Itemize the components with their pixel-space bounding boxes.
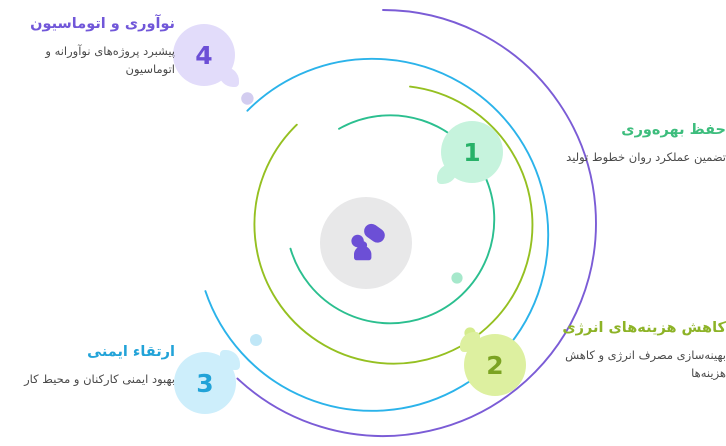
bubble-number-2: 2 — [486, 353, 503, 378]
item-heading-2: کاهش هزینه‌های انرژی — [556, 318, 726, 339]
dot-sky — [250, 334, 262, 346]
step-bubble-2[interactable]: 2 — [464, 334, 526, 396]
step-bubble-1[interactable]: 1 — [441, 121, 503, 183]
step-bubble-3[interactable]: 3 — [174, 352, 236, 414]
infographic-canvas: 4 1 2 3 نوآوری و اتوماسیون پیشبرد پروژه‌… — [0, 0, 726, 446]
bubble-number-4: 4 — [195, 43, 212, 68]
item-block-2: کاهش هزینه‌های انرژی بهینه‌سازی مصرف انر… — [556, 318, 726, 383]
dot-purple — [241, 92, 253, 104]
bubble-number-1: 1 — [463, 140, 480, 165]
outer-ring-arc — [237, 10, 596, 436]
item-heading-1: حفظ بهره‌وری — [556, 120, 726, 141]
item-heading-4: نوآوری و اتوماسیون — [0, 14, 175, 35]
step-bubble-4[interactable]: 4 — [173, 24, 235, 86]
item-description-4: پیشبرد پروژه‌های نوآورانه و اتوماسیون — [0, 42, 175, 79]
robotic-arm-icon — [343, 220, 389, 266]
dot-mint — [451, 272, 462, 283]
bubble-number-3: 3 — [196, 371, 213, 396]
item-description-3: بهبود ایمنی کارکنان و محیط کار — [0, 370, 175, 388]
item-block-1: حفظ بهره‌وری تضمین عملکرد روان خطوط تولی… — [556, 120, 726, 166]
item-description-1: تضمین عملکرد روان خطوط تولید — [556, 148, 726, 166]
item-block-3: ارتقاء ایمنی بهبود ایمنی کارکنان و محیط … — [0, 342, 175, 388]
item-description-2: بهینه‌سازی مصرف انرژی و کاهش هزینه‌ها — [556, 346, 726, 383]
item-block-4: نوآوری و اتوماسیون پیشبرد پروژه‌های نوآو… — [0, 14, 175, 79]
center-hub — [320, 197, 412, 289]
item-heading-3: ارتقاء ایمنی — [0, 342, 175, 363]
